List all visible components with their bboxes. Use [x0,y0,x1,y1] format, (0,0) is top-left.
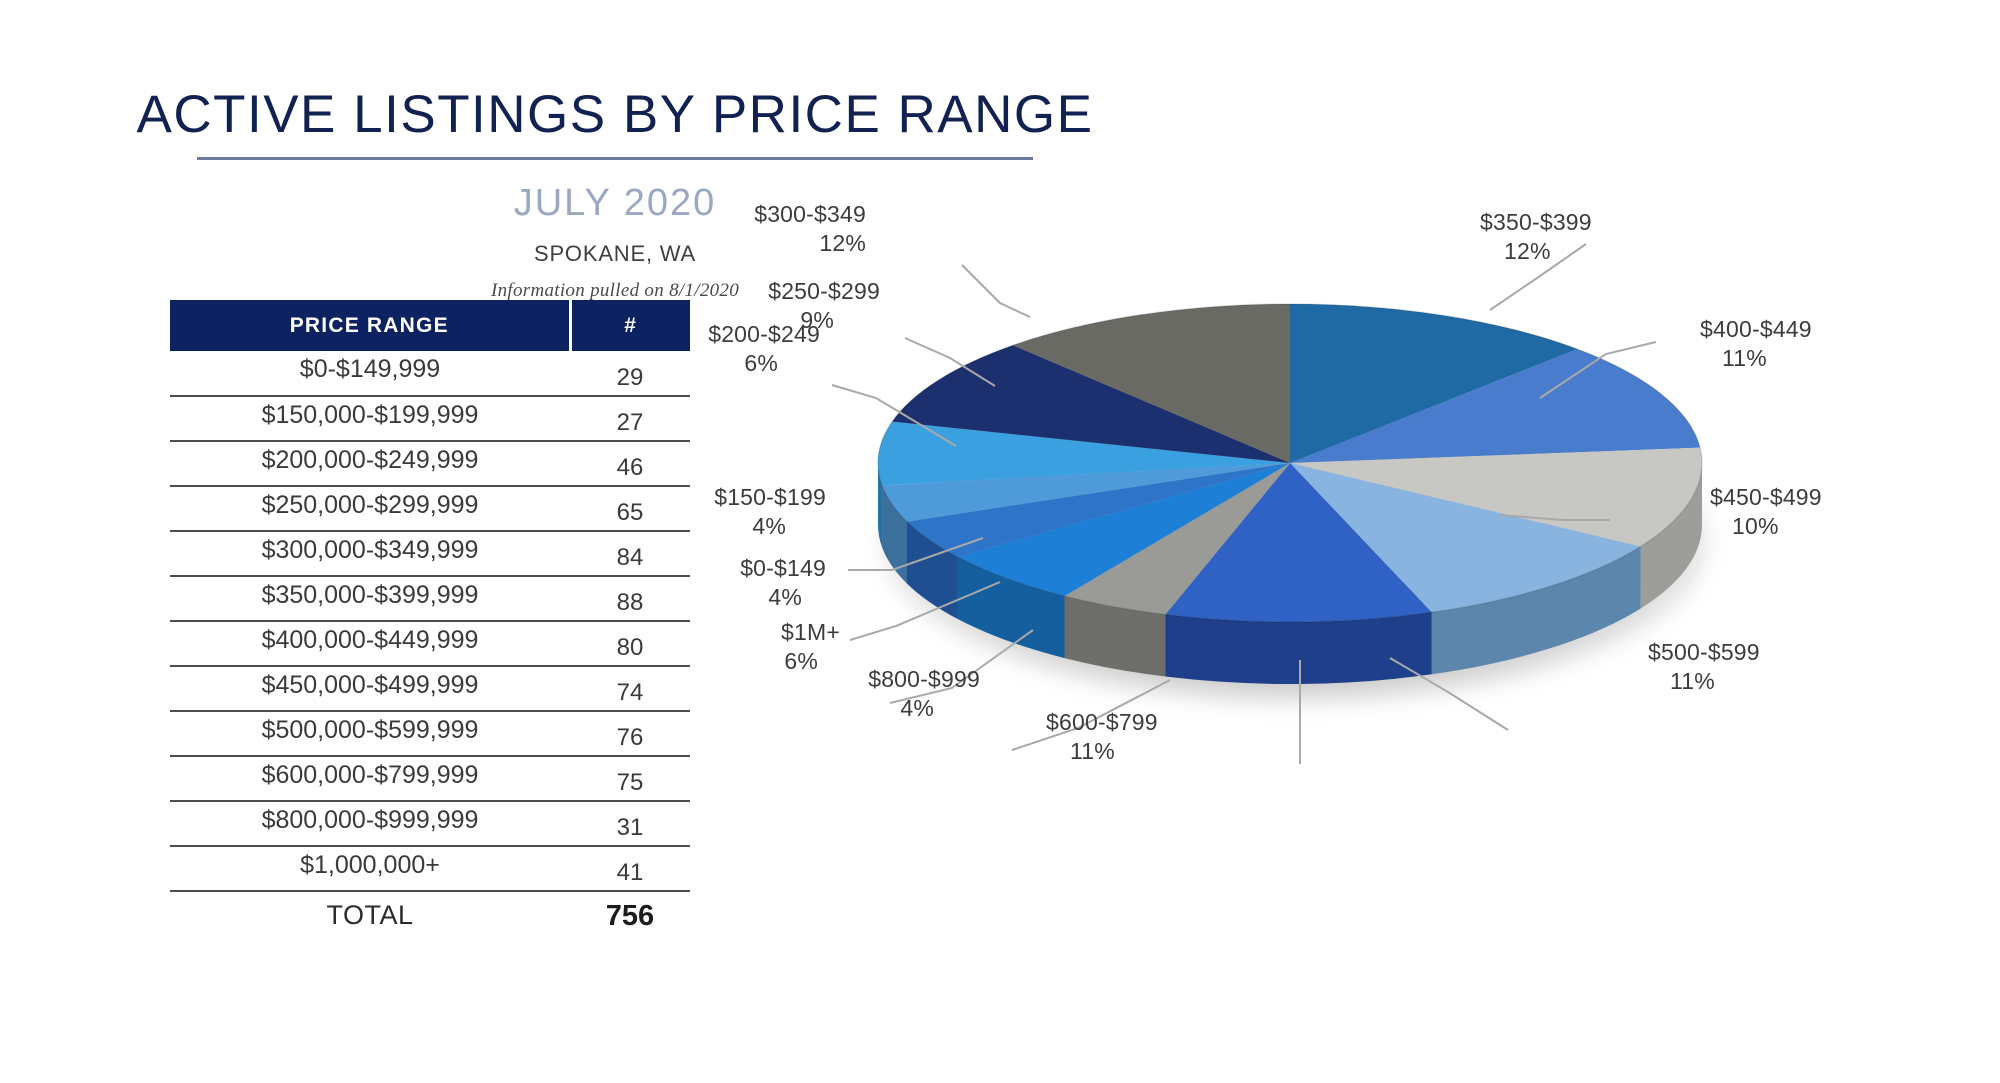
count-cell: 41 [570,846,690,891]
pie-label-600-799-name: $600-$799 [1046,709,1158,735]
pie-label-350-399-name: $350-$399 [1480,209,1592,235]
title-underline [197,157,1033,160]
pie-label-0-149-name: $0-$149 [740,555,826,581]
table-row: $200,000-$249,99946 [170,441,690,486]
pie-label-300-349: $300-$349 12% [666,200,866,259]
pie-label-600-799: $600-$799 11% [1046,708,1158,767]
pie-label-200-249-pct: 6% [570,349,778,378]
pie-label-1m-plus-name: $1M+ [781,619,840,645]
pie-label-250-299-name: $250-$299 [768,278,880,304]
count-cell: 75 [570,756,690,801]
price-range-cell: $300,000-$349,999 [170,531,570,576]
pie-label-350-399-pct: 12% [1504,237,1592,266]
page-title: ACTIVE LISTINGS BY PRICE RANGE [0,0,1230,141]
pie-label-450-499-pct: 10% [1732,512,1822,541]
price-range-cell: $800,000-$999,999 [170,801,570,846]
price-range-cell: $150,000-$199,999 [170,396,570,441]
pie-label-0-149: $0-$149 4% [576,554,826,613]
table-row: $800,000-$999,99931 [170,801,690,846]
pie-label-500-599-pct: 11% [1670,667,1760,696]
price-range-cell: $350,000-$399,999 [170,576,570,621]
pie-label-150-199: $150-$199 4% [566,483,826,542]
total-value: 756 [570,891,690,936]
count-cell: 46 [570,441,690,486]
count-cell: 76 [570,711,690,756]
pie-chart-3d [870,258,1710,738]
total-label: TOTAL [170,891,570,936]
pie-label-300-349-pct: 12% [666,229,866,258]
price-range-cell: $200,000-$249,999 [170,441,570,486]
pie-label-0-149-pct: 4% [576,583,802,612]
table-total-row: TOTAL756 [170,891,690,936]
price-range-cell: $600,000-$799,999 [170,756,570,801]
count-cell: 31 [570,801,690,846]
price-range-cell: $400,000-$449,999 [170,621,570,666]
pie-label-400-449: $400-$449 11% [1700,315,1812,374]
pie-label-500-599: $500-$599 11% [1648,638,1760,697]
pie-label-150-199-name: $150-$199 [714,484,826,510]
pie-label-800-999-name: $800-$999 [868,666,980,692]
pie-label-250-299: $250-$299 9% [640,277,880,336]
pie-chart-area: $300-$349 12% $350-$399 12% $400-$449 11… [700,190,2000,1050]
column-header-price-range: PRICE RANGE [170,300,570,351]
pie-label-600-799-pct: 11% [1070,737,1158,766]
price-range-cell: $0-$149,999 [170,351,570,396]
pie-label-250-299-pct: 9% [640,306,834,335]
pie-label-150-199-pct: 4% [566,512,786,541]
table-row: $1,000,000+41 [170,846,690,891]
pie-label-1m-plus: $1M+ 6% [590,618,840,677]
price-range-cell: $450,000-$499,999 [170,666,570,711]
pie-label-450-499-name: $450-$499 [1710,484,1822,510]
pie-label-400-449-pct: 11% [1722,344,1812,373]
pie-label-1m-plus-pct: 6% [590,647,818,676]
table-row: $500,000-$599,99976 [170,711,690,756]
pie-label-350-399: $350-$399 12% [1480,208,1592,267]
table-row: $600,000-$799,99975 [170,756,690,801]
pie-label-800-999-pct: 4% [680,694,934,723]
report-canvas: ACTIVE LISTINGS BY PRICE RANGE JULY 2020… [0,0,2000,1083]
price-range-cell: $500,000-$599,999 [170,711,570,756]
price-range-cell: $1,000,000+ [170,846,570,891]
count-cell: 27 [570,396,690,441]
table-row: $150,000-$199,99927 [170,396,690,441]
pie-label-400-449-name: $400-$449 [1700,316,1812,342]
price-range-cell: $250,000-$299,999 [170,486,570,531]
pie-label-450-499: $450-$499 10% [1710,483,1822,542]
pie-label-300-349-name: $300-$349 [754,201,866,227]
pie-label-500-599-name: $500-$599 [1648,639,1760,665]
